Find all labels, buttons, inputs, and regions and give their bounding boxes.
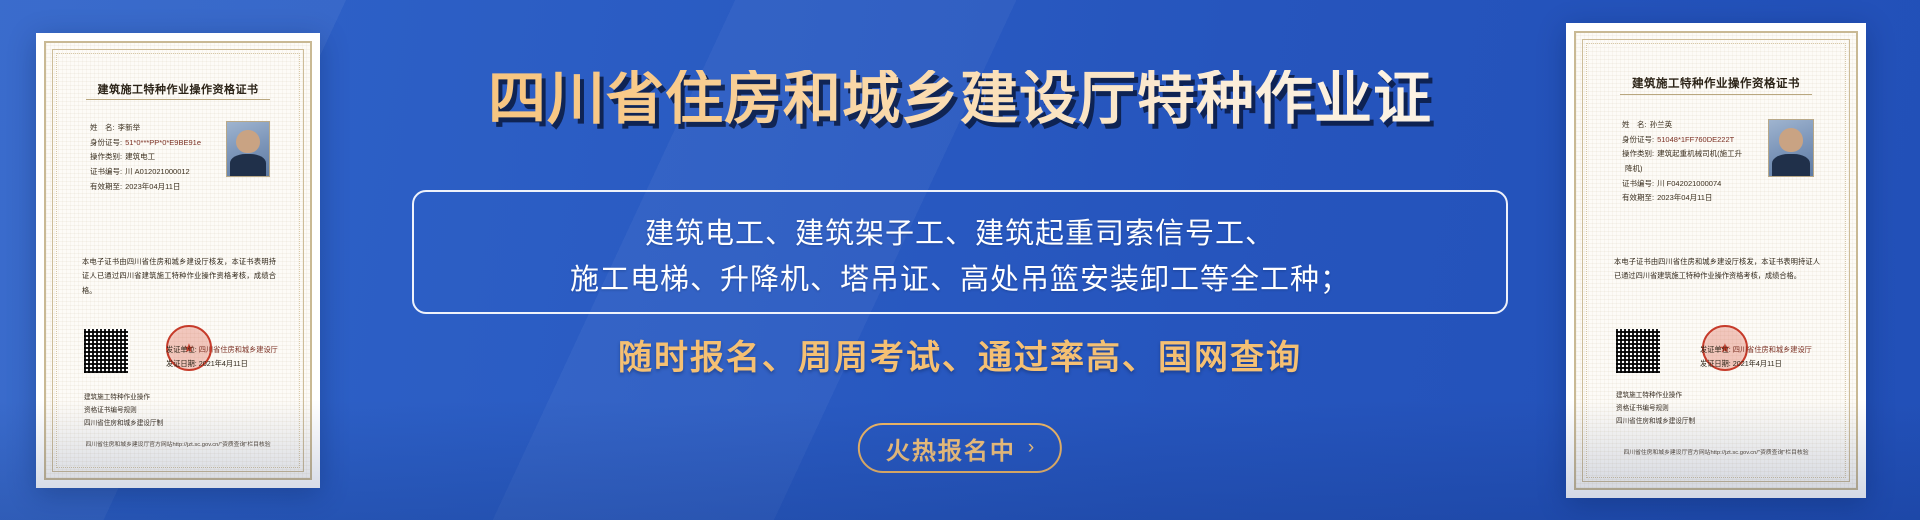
enroll-now-button[interactable]: 火热报名中 ›	[858, 423, 1062, 473]
certificate-paragraph-left: 本电子证书由四川省住房和城乡建设厅核发，本证书表明持证人已通过四川省建筑施工特种…	[82, 255, 276, 298]
issuer-org: 四川省住房和城乡建设厅	[199, 345, 278, 354]
field-value: 孙兰英	[1650, 118, 1673, 133]
field-key: 姓 名:	[90, 121, 115, 136]
certificate-footer-right: 四川省住房和城乡建设厅官方网站http://jzt.sc.gov.cn/"资质查…	[1576, 447, 1856, 456]
certificate-title-rule-right	[1620, 94, 1812, 95]
issuer-row: 发证单位: 四川省住房和城乡建设厅	[1700, 343, 1812, 357]
field-value: 川 A012021000012	[125, 165, 190, 180]
issue-date-row: 发证日期: 2021年4月11日	[1700, 357, 1812, 371]
certificate-field: 证书编号: 川 A012021000012	[90, 165, 230, 180]
qr-code-icon-right	[1616, 329, 1660, 373]
field-value: 降机)	[1625, 162, 1643, 177]
field-value: 51*0***PP*0*E9BE91e	[125, 136, 201, 151]
certificate-field: 有效期至: 2023年04月11日	[1622, 191, 1770, 206]
field-key: 操作类别:	[1622, 147, 1654, 162]
issue-date-label: 发证日期:	[1700, 359, 1731, 368]
certificate-field: 身份证号: 51048*1FF760DE222T	[1622, 133, 1770, 148]
scope-info-box: 建筑电工、建筑架子工、建筑起重司索信号工、 施工电梯、升降机、塔吊证、高处吊篮安…	[412, 190, 1508, 314]
issuer-org: 四川省住房和城乡建设厅	[1733, 345, 1812, 354]
certificate-field: 操作类别: 建筑电工	[90, 150, 230, 165]
certificate-title-rule-left	[86, 99, 270, 100]
field-value: 51048*1FF760DE222T	[1657, 133, 1734, 148]
slogan-text: 随时报名、周周考试、通过率高、国网查询	[360, 330, 1560, 379]
certificate-field: 证书编号: 川 F042021000074	[1622, 177, 1770, 192]
certificate-title-right: 建筑施工特种作业操作资格证书	[1576, 75, 1856, 91]
field-value: 建筑起重机械司机(施工升	[1657, 147, 1742, 162]
certificate-field: 身份证号: 51*0***PP*0*E9BE91e	[90, 136, 230, 151]
field-key: 证书编号:	[1622, 177, 1654, 192]
certificate-title-left: 建筑施工特种作业操作资格证书	[46, 81, 310, 97]
certificate-card-left: 建筑施工特种作业操作资格证书 姓 名: 李新举 身份证号: 51*0***PP*…	[36, 33, 320, 488]
certificate-field: 姓 名: 孙兰英	[1622, 118, 1770, 133]
certificate-card-right: 建筑施工特种作业操作资格证书 姓 名: 孙兰英 身份证号: 51048*1FF7…	[1566, 23, 1866, 498]
certificate-photo-right	[1768, 119, 1814, 177]
certificate-field: 降机)	[1622, 162, 1770, 177]
issuer-label: 发证单位:	[1700, 345, 1731, 354]
page-title: 四川省住房和城乡建设厅特种作业证	[360, 70, 1560, 128]
banner-content: 四川省住房和城乡建设厅特种作业证 建筑电工、建筑架子工、建筑起重司索信号工、 施…	[360, 0, 1560, 520]
field-value: 2023年04月11日	[125, 180, 180, 195]
certificate-notes-left: 建筑施工特种作业操作 资格证书编号规则 四川省住房和城乡建设厅制	[84, 391, 163, 431]
field-value: 川 F042021000074	[1657, 177, 1721, 192]
issuer-label: 发证单位:	[166, 345, 197, 354]
scope-line-2: 施工电梯、升降机、塔吊证、高处吊篮安装卸工等全工种；	[414, 256, 1506, 298]
field-key: 证书编号:	[90, 165, 122, 180]
field-value: 建筑电工	[125, 150, 155, 165]
note-line: 建筑施工特种作业操作	[84, 391, 163, 404]
certificate-issuer-left: 发证单位: 四川省住房和城乡建设厅 发证日期: 2021年4月11日	[166, 343, 278, 371]
certificate-fields-left: 姓 名: 李新举 身份证号: 51*0***PP*0*E9BE91e 操作类别:…	[90, 121, 230, 194]
note-line: 建筑施工特种作业操作	[1616, 389, 1695, 402]
note-line: 资格证书编号规则	[1616, 402, 1695, 415]
certificate-field: 姓 名: 李新举	[90, 121, 230, 136]
field-key: 有效期至:	[90, 180, 122, 195]
field-key: 操作类别:	[90, 150, 122, 165]
certificate-photo-left	[226, 121, 270, 177]
enroll-now-label: 火热报名中	[886, 431, 1016, 466]
field-key: 身份证号:	[90, 136, 122, 151]
certificate-footer-left: 四川省住房和城乡建设厅官方网站http://jzt.sc.gov.cn/"资质查…	[46, 439, 310, 448]
note-line: 四川省住房和城乡建设厅制	[84, 417, 163, 430]
field-value: 2023年04月11日	[1657, 191, 1712, 206]
certificate-field: 有效期至: 2023年04月11日	[90, 180, 230, 195]
chevron-right-icon: ›	[1028, 437, 1034, 459]
promo-banner: 建筑施工特种作业操作资格证书 姓 名: 李新举 身份证号: 51*0***PP*…	[0, 0, 1920, 520]
certificate-fields-right: 姓 名: 孙兰英 身份证号: 51048*1FF760DE222T 操作类别: …	[1622, 118, 1770, 206]
issuer-row: 发证单位: 四川省住房和城乡建设厅	[166, 343, 278, 357]
issue-date-value: 2021年4月11日	[1733, 359, 1782, 368]
certificate-notes-right: 建筑施工特种作业操作 资格证书编号规则 四川省住房和城乡建设厅制	[1616, 389, 1695, 429]
note-line: 四川省住房和城乡建设厅制	[1616, 415, 1695, 428]
note-line: 资格证书编号规则	[84, 404, 163, 417]
issue-date-label: 发证日期:	[166, 359, 197, 368]
scope-line-1: 建筑电工、建筑架子工、建筑起重司索信号工、	[414, 210, 1506, 252]
certificate-inner-right: 建筑施工特种作业操作资格证书 姓 名: 孙兰英 身份证号: 51048*1FF7…	[1574, 31, 1858, 490]
certificate-paragraph-right: 本电子证书由四川省住房和城乡建设厅核发，本证书表明持证人已通过四川省建筑施工特种…	[1614, 255, 1820, 284]
field-value: 李新举	[118, 121, 141, 136]
qr-code-icon-left	[84, 329, 128, 373]
issue-date-row: 发证日期: 2021年4月11日	[166, 357, 278, 371]
issue-date-value: 2021年4月11日	[199, 359, 248, 368]
certificate-issuer-right: 发证单位: 四川省住房和城乡建设厅 发证日期: 2021年4月11日	[1700, 343, 1812, 371]
certificate-inner-left: 建筑施工特种作业操作资格证书 姓 名: 李新举 身份证号: 51*0***PP*…	[44, 41, 312, 480]
field-key: 有效期至:	[1622, 191, 1654, 206]
certificate-field: 操作类别: 建筑起重机械司机(施工升	[1622, 147, 1770, 162]
field-key: 姓 名:	[1622, 118, 1647, 133]
field-key: 身份证号:	[1622, 133, 1654, 148]
